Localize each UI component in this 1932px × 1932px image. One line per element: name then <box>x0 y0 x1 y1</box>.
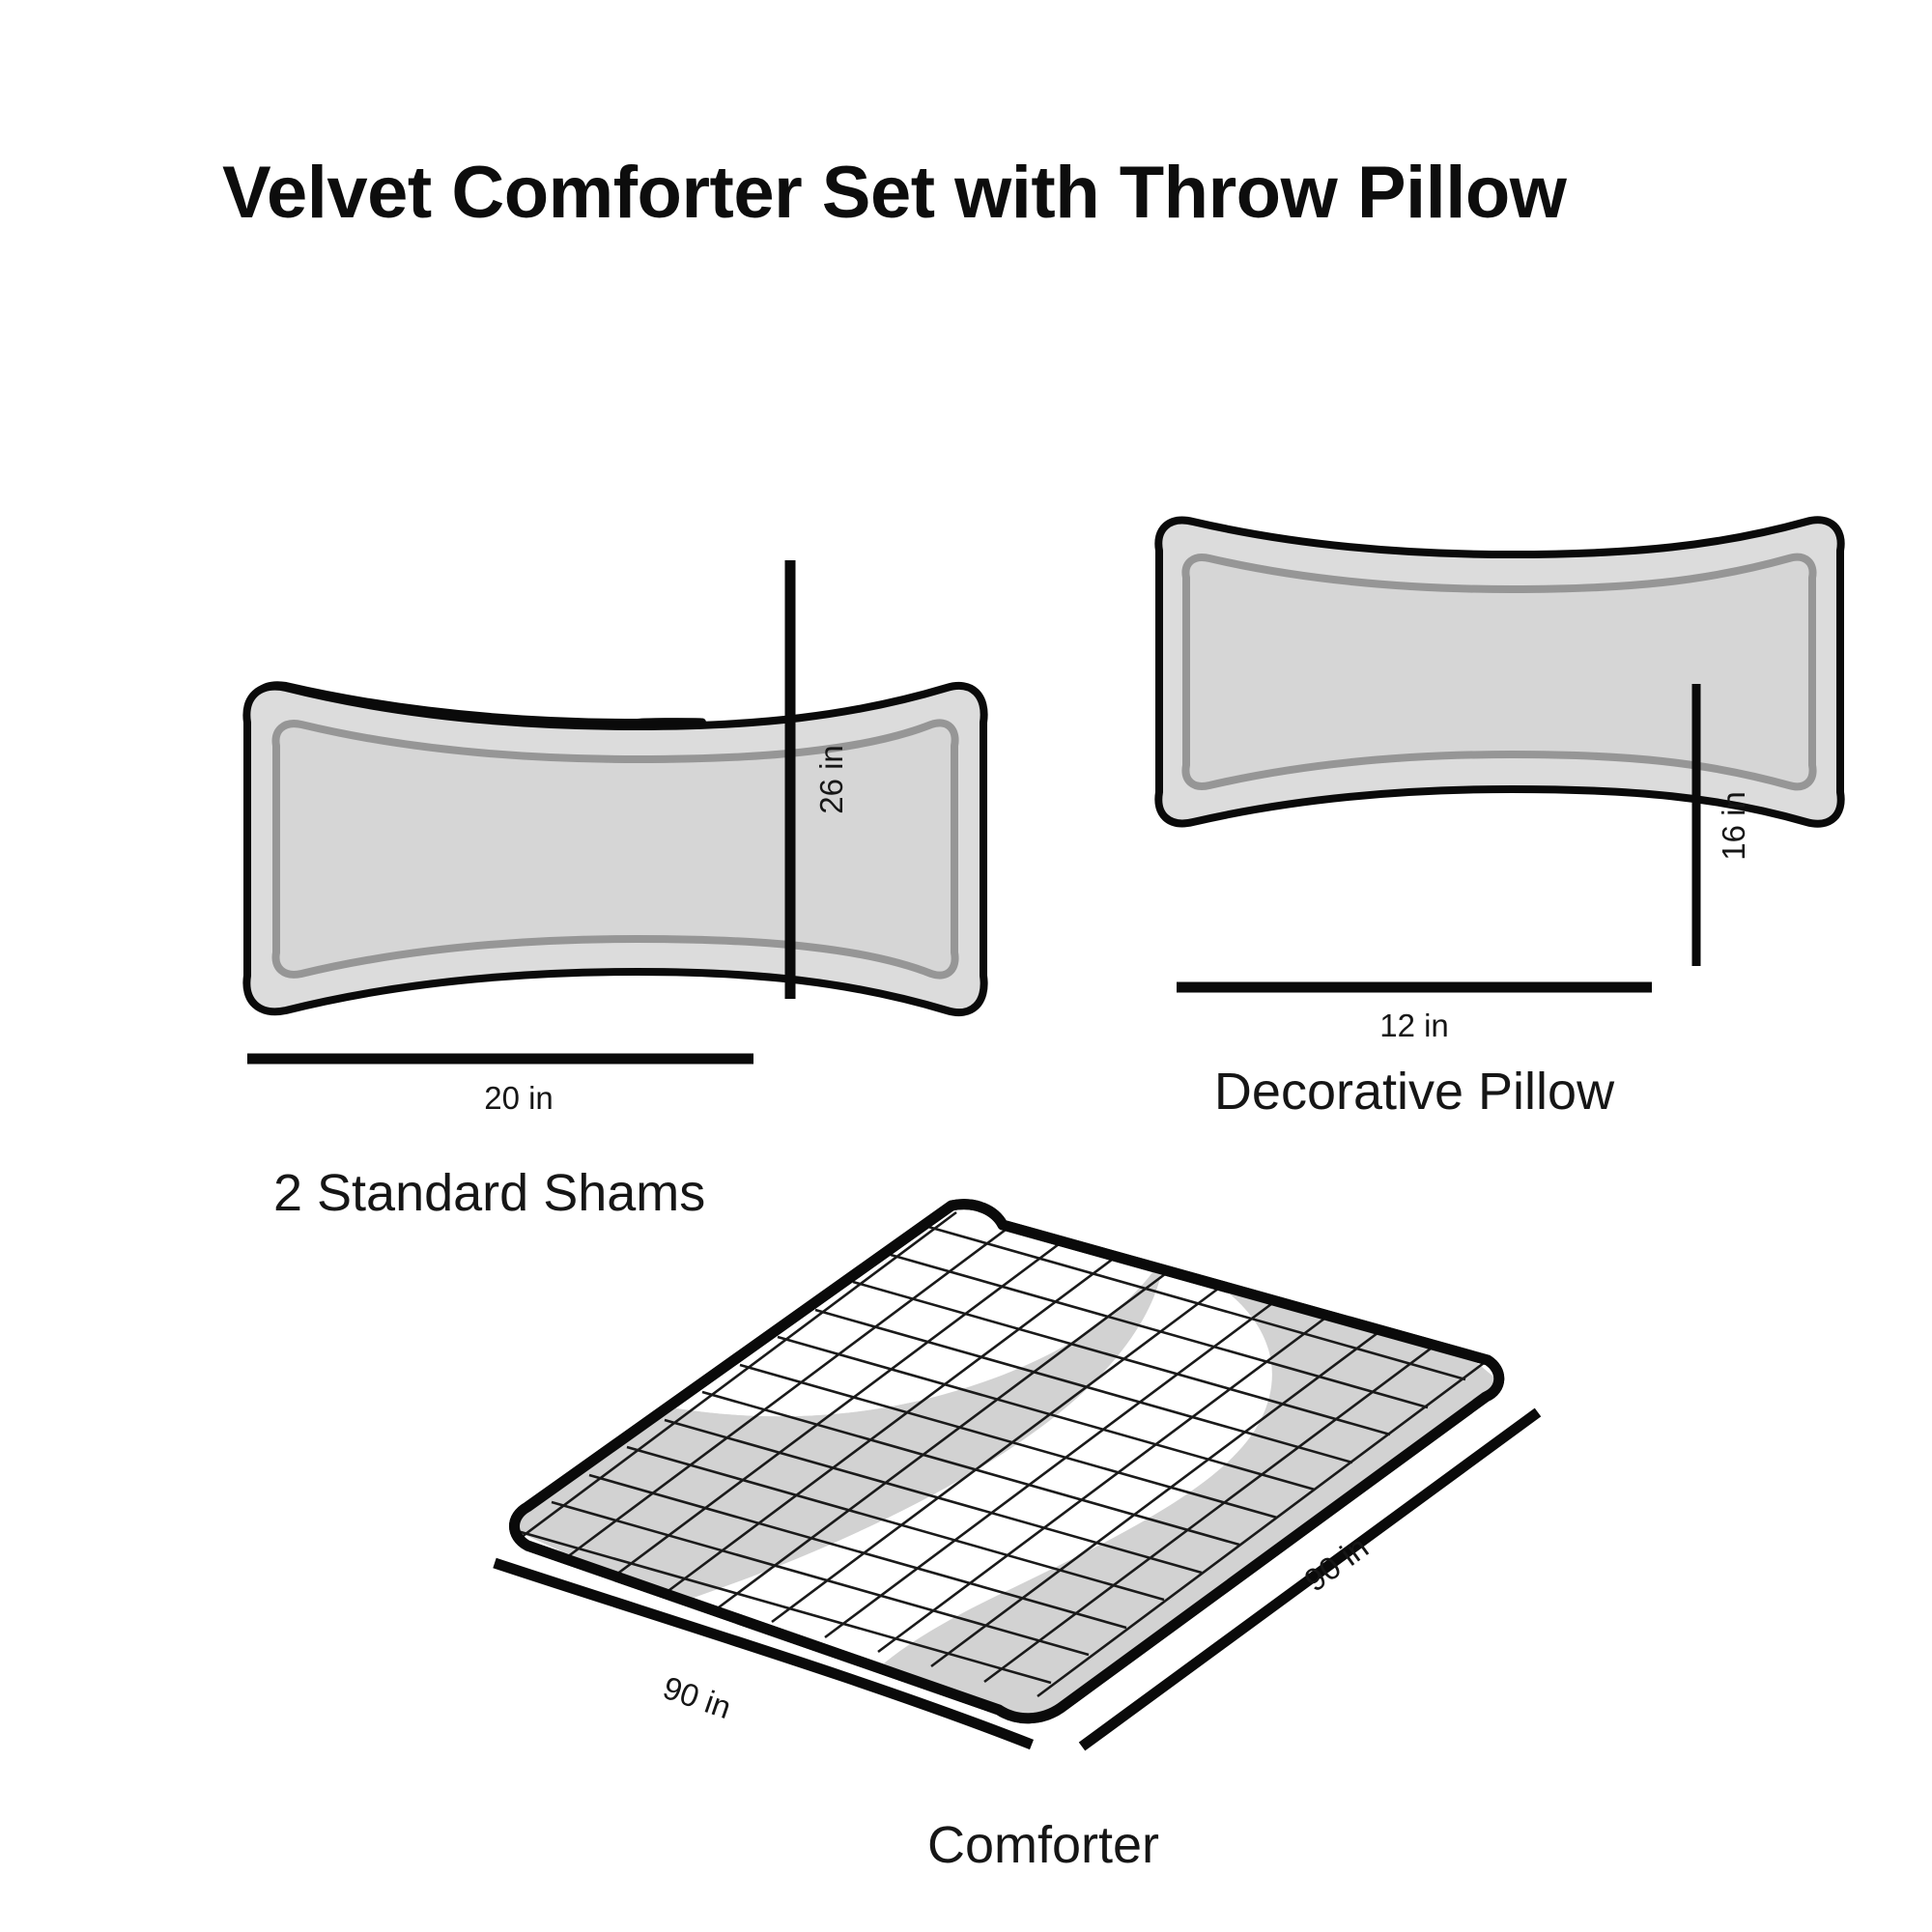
sham-caption: 2 Standard Shams <box>273 1164 705 1222</box>
decorative-pillow-illustration: 16 in 12 in Decorative Pillow <box>1158 520 1840 1121</box>
standard-sham-illustration: 26 in 20 in 2 Standard Shams <box>246 560 983 1222</box>
sham-width-label: 20 in <box>484 1080 554 1116</box>
page-title: Velvet Comforter Set with Throw Pillow <box>222 152 1568 234</box>
sham-height-label: 26 in <box>813 745 849 814</box>
decorative-pillow-height-label: 16 in <box>1716 791 1751 861</box>
comforter-width-label: 90 in <box>659 1669 736 1725</box>
decorative-pillow-width-label: 12 in <box>1379 1008 1449 1043</box>
comforter-illustration: 90 in 90 in Comforter <box>454 1198 1546 1874</box>
decorative-pillow-inner-stitch <box>1185 557 1812 787</box>
sham-inner-stitch <box>276 723 955 975</box>
comforter-caption: Comforter <box>927 1816 1159 1874</box>
product-dimension-diagram: Velvet Comforter Set with Throw Pillow 2… <box>0 0 1932 1932</box>
decorative-pillow-caption: Decorative Pillow <box>1214 1063 1615 1121</box>
